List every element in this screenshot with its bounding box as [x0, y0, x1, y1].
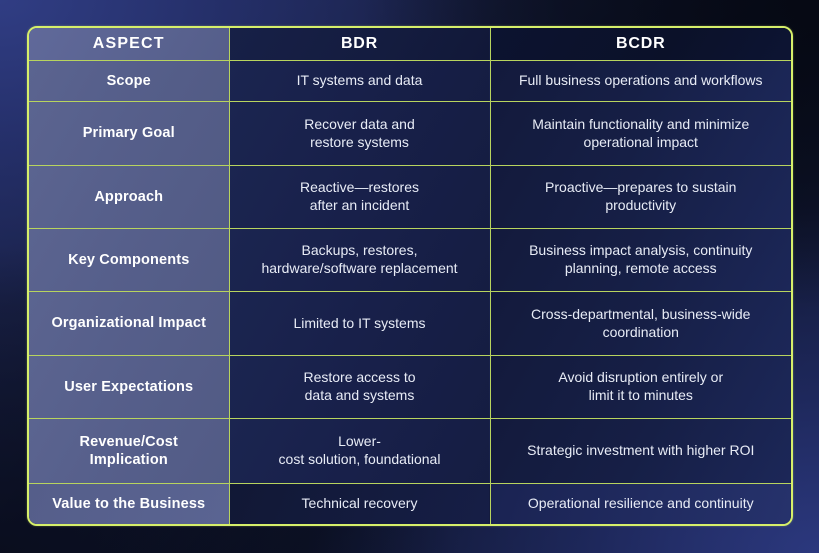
cell-line: Strategic investment with higher ROI [503, 442, 780, 460]
cell-line: productivity [503, 197, 780, 215]
cell-line: Operational resilience and continuity [503, 495, 780, 513]
cell-line: User Expectations [41, 378, 217, 397]
cell-bdr-3: Reactive—restoresafter an incident [229, 165, 490, 228]
cell-bcdr-7: Strategic investment with higher ROI [490, 419, 791, 484]
row-label-1: Scope [29, 61, 229, 102]
cell-bdr-8: Technical recovery [229, 484, 490, 524]
cell-line: Limited to IT systems [242, 315, 478, 333]
table-body: ScopeIT systems and dataFull business op… [29, 61, 791, 524]
table-header: ASPECT BDR BCDR [29, 28, 791, 61]
comparison-table-container: ASPECT BDR BCDR ScopeIT systems and data… [27, 26, 793, 526]
table-row: Organizational ImpactLimited to IT syste… [29, 292, 791, 355]
row-label-3: Approach [29, 165, 229, 228]
cell-line: after an incident [242, 197, 478, 215]
cell-line: Revenue/Cost [41, 433, 217, 452]
cell-line: Lower- [242, 433, 478, 451]
cell-bdr-2: Recover data andrestore systems [229, 102, 490, 165]
cell-line: limit it to minutes [503, 387, 780, 405]
cell-bdr-4: Backups, restores,hardware/software repl… [229, 229, 490, 292]
cell-bdr-1: IT systems and data [229, 61, 490, 102]
table-row: ScopeIT systems and dataFull business op… [29, 61, 791, 102]
cell-bdr-6: Restore access todata and systems [229, 355, 490, 418]
table-row: Primary GoalRecover data andrestore syst… [29, 102, 791, 165]
cell-line: Implication [41, 451, 217, 470]
cell-bcdr-4: Business impact analysis, continuityplan… [490, 229, 791, 292]
cell-line: Value to the Business [41, 495, 217, 514]
cell-line: Recover data and [242, 116, 478, 134]
cell-line: Full business operations and workflows [503, 72, 780, 90]
cell-line: Key Components [41, 251, 217, 270]
row-label-2: Primary Goal [29, 102, 229, 165]
cell-line: coordination [503, 324, 780, 342]
table-row: Key ComponentsBackups, restores,hardware… [29, 229, 791, 292]
cell-line: Organizational Impact [41, 314, 217, 333]
cell-bcdr-1: Full business operations and workflows [490, 61, 791, 102]
cell-line: Technical recovery [242, 495, 478, 513]
table-header-row: ASPECT BDR BCDR [29, 28, 791, 61]
row-label-7: Revenue/CostImplication [29, 419, 229, 484]
cell-line: restore systems [242, 134, 478, 152]
cell-line: Maintain functionality and minimize [503, 116, 780, 134]
column-header-bdr: BDR [229, 28, 490, 61]
row-label-4: Key Components [29, 229, 229, 292]
cell-line: Reactive—restores [242, 179, 478, 197]
cell-line: data and systems [242, 387, 478, 405]
cell-line: Proactive—prepares to sustain [503, 179, 780, 197]
cell-line: Primary Goal [41, 124, 217, 143]
cell-line: Cross-departmental, business-wide [503, 306, 780, 324]
row-label-6: User Expectations [29, 355, 229, 418]
table-row: User ExpectationsRestore access todata a… [29, 355, 791, 418]
cell-bcdr-3: Proactive—prepares to sustainproductivit… [490, 165, 791, 228]
comparison-table: ASPECT BDR BCDR ScopeIT systems and data… [29, 28, 791, 524]
cell-line: Scope [41, 72, 217, 91]
cell-line: planning, remote access [503, 260, 780, 278]
table-row: ApproachReactive—restoresafter an incide… [29, 165, 791, 228]
cell-line: Approach [41, 188, 217, 207]
cell-line: operational impact [503, 134, 780, 152]
cell-line: Avoid disruption entirely or [503, 369, 780, 387]
column-header-bcdr: BCDR [490, 28, 791, 61]
cell-line: hardware/software replacement [242, 260, 478, 278]
cell-line: Backups, restores, [242, 242, 478, 260]
row-label-5: Organizational Impact [29, 292, 229, 355]
column-header-aspect: ASPECT [29, 28, 229, 61]
cell-bcdr-2: Maintain functionality and minimizeopera… [490, 102, 791, 165]
cell-bdr-5: Limited to IT systems [229, 292, 490, 355]
row-label-8: Value to the Business [29, 484, 229, 524]
cell-line: Restore access to [242, 369, 478, 387]
cell-line: cost solution, foundational [242, 451, 478, 469]
cell-bdr-7: Lower-cost solution, foundational [229, 419, 490, 484]
cell-bcdr-6: Avoid disruption entirely orlimit it to … [490, 355, 791, 418]
cell-bcdr-5: Cross-departmental, business-widecoordin… [490, 292, 791, 355]
cell-bcdr-8: Operational resilience and continuity [490, 484, 791, 524]
cell-line: Business impact analysis, continuity [503, 242, 780, 260]
table-row: Value to the BusinessTechnical recoveryO… [29, 484, 791, 524]
cell-line: IT systems and data [242, 72, 478, 90]
table-row: Revenue/CostImplicationLower-cost soluti… [29, 419, 791, 484]
